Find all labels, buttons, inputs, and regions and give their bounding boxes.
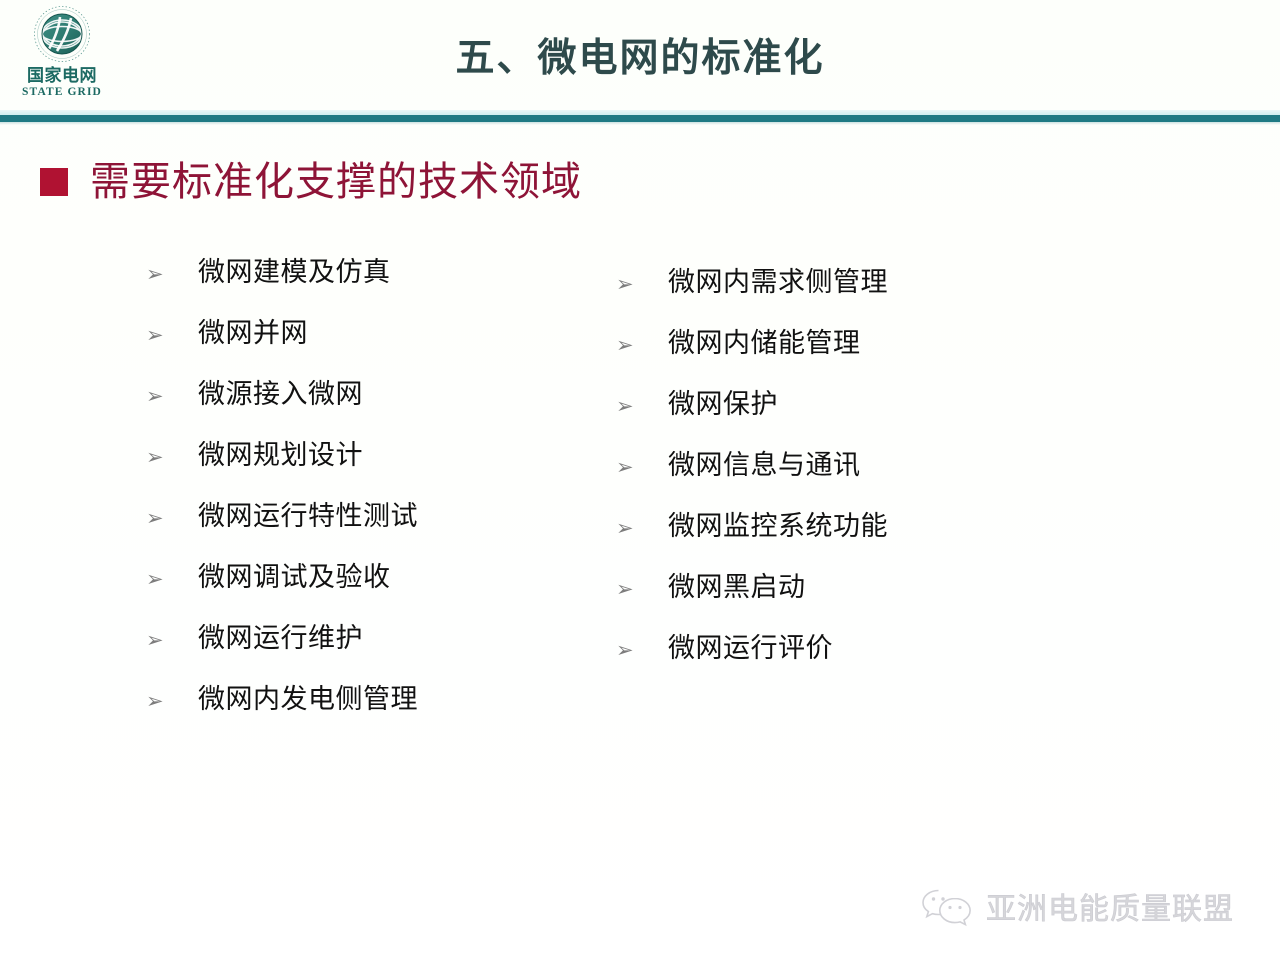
list-item[interactable]: ➢ 微网监控系统功能 [608, 512, 1078, 573]
arrow-bullet-icon: ➢ [138, 259, 198, 289]
list-item-label: 微网监控系统功能 [668, 512, 888, 542]
slide-canvas: 国家电网 STATE GRID 五、微电网的标准化 需要标准化支撑的技术领域 ➢… [0, 0, 1280, 960]
arrow-bullet-icon: ➢ [138, 503, 198, 533]
tech-domain-right-column: ➢ 微网内需求侧管理 ➢ 微网内储能管理 ➢ 微网保护 ➢ 微网信息与通讯 ➢ … [608, 258, 1078, 746]
arrow-bullet-icon: ➢ [608, 574, 668, 604]
slide-header: 国家电网 STATE GRID 五、微电网的标准化 [0, 0, 1280, 115]
list-item-label: 微网信息与通讯 [668, 451, 861, 481]
arrow-bullet-icon: ➢ [608, 452, 668, 482]
arrow-bullet-icon: ➢ [138, 564, 198, 594]
list-item[interactable]: ➢ 微网调试及验收 [138, 563, 608, 624]
wechat-watermark: 亚洲电能质量联盟 [920, 884, 1234, 928]
watermark-label: 亚洲电能质量联盟 [986, 884, 1234, 928]
arrow-bullet-icon: ➢ [138, 686, 198, 716]
list-item[interactable]: ➢ 微网内发电侧管理 [138, 685, 608, 746]
arrow-bullet-icon: ➢ [138, 381, 198, 411]
section-heading: 需要标准化支撑的技术领域 [40, 160, 582, 204]
arrow-bullet-icon: ➢ [608, 391, 668, 421]
header-divider [0, 115, 1280, 122]
list-item-label: 微网内发电侧管理 [198, 685, 418, 715]
list-item[interactable]: ➢ 微网建模及仿真 [138, 258, 608, 319]
arrow-bullet-icon: ➢ [608, 635, 668, 665]
arrow-bullet-icon: ➢ [138, 320, 198, 350]
list-item[interactable]: ➢ 微网黑启动 [608, 573, 1078, 634]
list-item[interactable]: ➢ 微网保护 [608, 390, 1078, 451]
list-item[interactable]: ➢ 微网内需求侧管理 [608, 268, 1078, 329]
list-item[interactable]: ➢ 微源接入微网 [138, 380, 608, 441]
arrow-bullet-icon: ➢ [608, 269, 668, 299]
list-item-label: 微网运行特性测试 [198, 502, 418, 532]
wechat-icon [920, 884, 976, 928]
list-item-label: 微网调试及验收 [198, 563, 391, 593]
list-item-label: 微网并网 [198, 319, 308, 349]
header-divider-shadow [0, 122, 1280, 125]
tech-domain-left-column: ➢ 微网建模及仿真 ➢ 微网并网 ➢ 微源接入微网 ➢ 微网规划设计 ➢ 微网运… [138, 258, 608, 746]
list-item-label: 微网运行维护 [198, 624, 363, 654]
square-bullet-icon [40, 168, 68, 196]
list-item-label: 微网规划设计 [198, 441, 363, 471]
section-heading-label: 需要标准化支撑的技术领域 [90, 160, 582, 204]
arrow-bullet-icon: ➢ [608, 330, 668, 360]
list-item-label: 微网内需求侧管理 [668, 268, 888, 298]
list-item[interactable]: ➢ 微网运行评价 [608, 634, 1078, 695]
arrow-bullet-icon: ➢ [138, 442, 198, 472]
list-item-label: 微网黑启动 [668, 573, 806, 603]
list-item-label: 微源接入微网 [198, 380, 363, 410]
list-item-label: 微网运行评价 [668, 634, 833, 664]
list-item[interactable]: ➢ 微网运行维护 [138, 624, 608, 685]
list-item[interactable]: ➢ 微网内储能管理 [608, 329, 1078, 390]
list-item[interactable]: ➢ 微网并网 [138, 319, 608, 380]
page-title: 五、微电网的标准化 [0, 27, 1280, 83]
list-item-label: 微网保护 [668, 390, 778, 420]
list-item[interactable]: ➢ 微网信息与通讯 [608, 451, 1078, 512]
list-item-label: 微网内储能管理 [668, 329, 861, 359]
list-item[interactable]: ➢ 微网规划设计 [138, 441, 608, 502]
list-item-label: 微网建模及仿真 [198, 258, 391, 288]
logo-name-en: STATE GRID [14, 86, 110, 99]
tech-domain-columns: ➢ 微网建模及仿真 ➢ 微网并网 ➢ 微源接入微网 ➢ 微网规划设计 ➢ 微网运… [0, 258, 1280, 746]
arrow-bullet-icon: ➢ [138, 625, 198, 655]
list-item[interactable]: ➢ 微网运行特性测试 [138, 502, 608, 563]
arrow-bullet-icon: ➢ [608, 513, 668, 543]
